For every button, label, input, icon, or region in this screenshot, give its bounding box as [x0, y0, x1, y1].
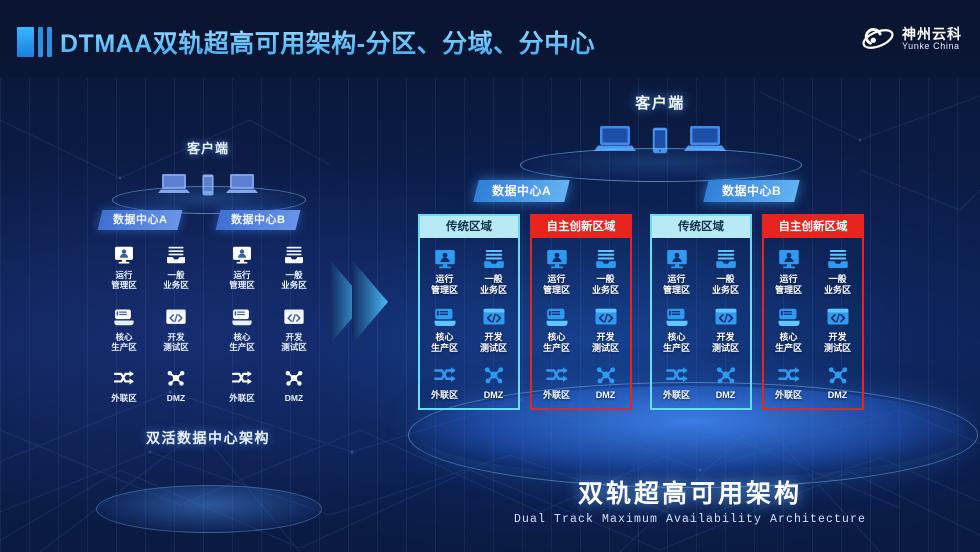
zone-icon-wrap — [150, 242, 202, 268]
zone-icon-wrap — [701, 362, 750, 388]
zone-cell[interactable]: 核心生产区 — [764, 304, 813, 354]
zone-label: 核心生产区 — [532, 332, 581, 354]
zone-label: 核心生产区 — [764, 332, 813, 354]
zone-cell[interactable]: 开发测试区 — [581, 304, 630, 354]
monitor-user-icon — [545, 247, 569, 271]
zone-icon-wrap — [469, 246, 518, 272]
zone-cell[interactable]: 一般业务区 — [813, 246, 862, 296]
left-datacenter-tag-b-label: 数据中心B — [231, 210, 285, 230]
left-zone-cell: 核心生产区 — [98, 304, 150, 353]
code-window-icon — [714, 305, 738, 329]
zone-cell[interactable]: 运行管理区 — [652, 246, 701, 296]
crossing-arrows-icon — [545, 363, 569, 387]
zone-icon-wrap — [652, 362, 701, 388]
zone-label: 开发测试区 — [469, 332, 518, 354]
left-zone-cell: DMZ — [268, 365, 320, 403]
network-nodes-icon — [283, 367, 305, 389]
inbox-tray-icon — [482, 247, 506, 271]
zone-label: DMZ — [813, 390, 862, 401]
left-datacenter-tag-a-label: 数据中心A — [113, 210, 167, 230]
header-accent-bars-icon — [17, 27, 52, 57]
zone-column-body: 运行管理区一般业务区核心生产区开发测试区外联区DMZ — [762, 238, 864, 410]
zone-icon-wrap — [532, 362, 581, 388]
zone-label: 运行管理区 — [652, 274, 701, 296]
zone-icon-wrap — [150, 365, 202, 391]
left-zone-label: 一般业务区 — [268, 270, 320, 291]
left-zone-label: 外联区 — [216, 393, 268, 403]
zone-label: DMZ — [581, 390, 630, 401]
network-nodes-icon — [165, 367, 187, 389]
zone-icon-wrap — [813, 246, 862, 272]
zone-icon-wrap — [420, 304, 469, 330]
zone-icon-wrap — [701, 304, 750, 330]
zone-icon-wrap — [150, 304, 202, 330]
monitor-user-icon — [231, 244, 253, 266]
zone-column-header: 传统区域 — [418, 214, 520, 238]
inbox-tray-icon — [826, 247, 850, 271]
crossing-arrows-icon — [231, 367, 253, 389]
database-server-icon — [231, 306, 253, 328]
inbox-tray-icon — [283, 244, 305, 266]
zone-column-traditional[interactable]: 传统区域运行管理区一般业务区核心生产区开发测试区外联区DMZ — [650, 214, 752, 410]
left-zone-label: 开发测试区 — [268, 332, 320, 353]
left-zone-label: 开发测试区 — [150, 332, 202, 353]
zone-icon-wrap — [652, 246, 701, 272]
monitor-user-icon — [113, 244, 135, 266]
left-zone-label: 运行管理区 — [216, 270, 268, 291]
inbox-tray-icon — [594, 247, 618, 271]
zone-icon-wrap — [652, 304, 701, 330]
inbox-tray-icon — [714, 247, 738, 271]
database-server-icon — [665, 305, 689, 329]
monitor-user-icon — [777, 247, 801, 271]
left-datacenter-tag-a: 数据中心A — [98, 210, 183, 230]
zone-icon-wrap — [581, 246, 630, 272]
code-window-icon — [165, 306, 187, 328]
zone-icon-wrap — [813, 304, 862, 330]
zone-label: DMZ — [701, 390, 750, 401]
zone-icon-wrap — [268, 242, 320, 268]
zone-cell[interactable]: 一般业务区 — [469, 246, 518, 296]
code-window-icon — [482, 305, 506, 329]
zone-column-innovation[interactable]: 自主创新区域运行管理区一般业务区核心生产区开发测试区外联区DMZ — [530, 214, 632, 410]
crossing-arrows-icon — [777, 363, 801, 387]
swirl-logo-icon — [861, 24, 895, 54]
right-client-label: 客户端 — [570, 92, 750, 113]
zone-icon-wrap — [469, 362, 518, 388]
zone-label: DMZ — [469, 390, 518, 401]
logo-text-cn: 神州云科 — [902, 27, 962, 42]
page-title: DTMAA双轨超高可用架构-分区、分域、分中心 — [60, 24, 595, 60]
right-datacenter-tag-b-label: 数据中心B — [722, 180, 781, 202]
right-datacenter-tag-a-label: 数据中心A — [492, 180, 551, 202]
zone-cell[interactable]: 运行管理区 — [532, 246, 581, 296]
zone-icon-wrap — [469, 304, 518, 330]
zone-icon-wrap — [701, 246, 750, 272]
zone-cell[interactable]: 外联区 — [532, 362, 581, 401]
zone-column-body: 运行管理区一般业务区核心生产区开发测试区外联区DMZ — [650, 238, 752, 410]
right-caption-cn: 双轨超高可用架构 — [460, 474, 920, 510]
zone-icon-wrap — [420, 246, 469, 272]
zone-column-header: 传统区域 — [650, 214, 752, 238]
zone-label: 运行管理区 — [420, 274, 469, 296]
dtmaa-architecture-panel: 客户端 数据中心A 数据中心B 传统区域运行管理区一般业务区核心生产区开发测试区… — [400, 86, 980, 546]
crossing-arrows-icon — [665, 363, 689, 387]
left-zone-label: 运行管理区 — [98, 270, 150, 291]
database-server-icon — [777, 305, 801, 329]
zone-icon-wrap — [813, 362, 862, 388]
left-zone-cell: 外联区 — [216, 365, 268, 403]
zone-icon-wrap — [764, 362, 813, 388]
left-zone-label: DMZ — [150, 393, 202, 403]
right-caption-en: Dual Track Maximum Availability Architec… — [460, 513, 920, 526]
right-datacenter-tag-a: 数据中心A — [473, 180, 570, 202]
database-server-icon — [545, 305, 569, 329]
zone-icon-wrap — [532, 246, 581, 272]
zone-cell[interactable]: 核心生产区 — [420, 304, 469, 354]
zone-label: 外联区 — [420, 390, 469, 401]
zone-label: 一般业务区 — [469, 274, 518, 296]
monitor-user-icon — [665, 247, 689, 271]
zone-label: 运行管理区 — [764, 274, 813, 296]
zone-icon-wrap — [420, 362, 469, 388]
zone-column-innovation[interactable]: 自主创新区域运行管理区一般业务区核心生产区开发测试区外联区DMZ — [762, 214, 864, 410]
database-server-icon — [433, 305, 457, 329]
zone-label: 运行管理区 — [532, 274, 581, 296]
database-server-icon — [113, 306, 135, 328]
right-caption: 双轨超高可用架构 Dual Track Maximum Availability… — [460, 474, 920, 526]
zone-icon-wrap — [764, 304, 813, 330]
zone-column-header: 自主创新区域 — [530, 214, 632, 238]
zone-label: 核心生产区 — [420, 332, 469, 354]
left-datacenter-tag-b: 数据中心B — [216, 210, 301, 230]
zone-cell[interactable]: 一般业务区 — [701, 246, 750, 296]
zone-icon-wrap — [268, 365, 320, 391]
right-datacenter-tag-b: 数据中心B — [703, 180, 800, 202]
brand-logo: 神州云科 Yunke China — [861, 24, 962, 54]
left-client-label: 客户端 — [88, 138, 328, 157]
zone-column-traditional[interactable]: 传统区域运行管理区一般业务区核心生产区开发测试区外联区DMZ — [418, 214, 520, 410]
zone-cell[interactable]: 外联区 — [652, 362, 701, 401]
left-zone-cell: DMZ — [150, 365, 202, 403]
zone-column-body: 运行管理区一般业务区核心生产区开发测试区外联区DMZ — [530, 238, 632, 410]
zone-cell[interactable]: 开发测试区 — [813, 304, 862, 354]
zone-label: 一般业务区 — [701, 274, 750, 296]
zone-icon-wrap — [98, 365, 150, 391]
zone-cell[interactable]: 开发测试区 — [701, 304, 750, 354]
code-window-icon — [594, 305, 618, 329]
double-chevron-right-icon — [326, 252, 396, 352]
code-window-icon — [283, 306, 305, 328]
network-nodes-icon — [826, 363, 850, 387]
zone-icon-wrap — [764, 246, 813, 272]
left-zone-label: 核心生产区 — [98, 332, 150, 353]
zone-icon-wrap — [98, 242, 150, 268]
legacy-architecture-panel: 客户端 数据中心A 数据中心B 运行管理区一般业务区核心生产区开发测试区外联区D… — [88, 130, 328, 460]
left-zone-cell: 运行管理区 — [216, 242, 268, 291]
left-zone-cell: 运行管理区 — [98, 242, 150, 291]
left-zone-label: 外联区 — [98, 393, 150, 403]
left-zone-grid-b: 运行管理区一般业务区核心生产区开发测试区外联区DMZ — [216, 242, 320, 417]
network-nodes-icon — [714, 363, 738, 387]
zone-icon-wrap — [216, 304, 268, 330]
zone-column-header: 自主创新区域 — [762, 214, 864, 238]
zone-label: 一般业务区 — [581, 274, 630, 296]
crossing-arrows-icon — [433, 363, 457, 387]
zone-cell[interactable]: DMZ — [469, 362, 518, 401]
zone-icon-wrap — [581, 362, 630, 388]
code-window-icon — [826, 305, 850, 329]
left-zone-label: 核心生产区 — [216, 332, 268, 353]
left-zone-label: 一般业务区 — [150, 270, 202, 291]
monitor-user-icon — [433, 247, 457, 271]
zone-cell[interactable]: 核心生产区 — [532, 304, 581, 354]
zone-icon-wrap — [216, 365, 268, 391]
left-zone-cell: 开发测试区 — [150, 304, 202, 353]
left-zone-cell: 一般业务区 — [268, 242, 320, 291]
zone-label: 开发测试区 — [813, 332, 862, 354]
crossing-arrows-icon — [113, 367, 135, 389]
left-zone-cell: 外联区 — [98, 365, 150, 403]
zone-cell[interactable]: 运行管理区 — [764, 246, 813, 296]
zone-cell[interactable]: 一般业务区 — [581, 246, 630, 296]
left-caption: 双活数据中心架构 — [88, 428, 328, 448]
zone-cell[interactable]: DMZ — [581, 362, 630, 401]
zone-column-body: 运行管理区一般业务区核心生产区开发测试区外联区DMZ — [418, 238, 520, 410]
inbox-tray-icon — [165, 244, 187, 266]
zone-label: 核心生产区 — [652, 332, 701, 354]
left-zone-cell: 核心生产区 — [216, 304, 268, 353]
left-zone-cell: 一般业务区 — [150, 242, 202, 291]
zone-label: 一般业务区 — [813, 274, 862, 296]
zone-icon-wrap — [98, 304, 150, 330]
left-zone-grid-a: 运行管理区一般业务区核心生产区开发测试区外联区DMZ — [98, 242, 202, 417]
zone-cell[interactable]: 开发测试区 — [469, 304, 518, 354]
zone-label: 开发测试区 — [701, 332, 750, 354]
right-client-platform — [520, 148, 802, 182]
zone-label: 外联区 — [764, 390, 813, 401]
left-zone-label: DMZ — [268, 393, 320, 403]
zone-icon-wrap — [532, 304, 581, 330]
zone-cell[interactable]: 运行管理区 — [420, 246, 469, 296]
left-zone-cell: 开发测试区 — [268, 304, 320, 353]
network-nodes-icon — [594, 363, 618, 387]
logo-text-en: Yunke China — [902, 42, 962, 51]
network-nodes-icon — [482, 363, 506, 387]
zone-cell[interactable]: 外联区 — [420, 362, 469, 401]
zone-icon-wrap — [581, 304, 630, 330]
left-base-platform — [96, 485, 322, 533]
zone-icon-wrap — [216, 242, 268, 268]
zone-cell[interactable]: DMZ — [813, 362, 862, 401]
zone-cell[interactable]: 外联区 — [764, 362, 813, 401]
zone-icon-wrap — [268, 304, 320, 330]
zone-cell[interactable]: 核心生产区 — [652, 304, 701, 354]
zone-label: 外联区 — [652, 390, 701, 401]
zone-label: 开发测试区 — [581, 332, 630, 354]
zone-cell[interactable]: DMZ — [701, 362, 750, 401]
zone-label: 外联区 — [532, 390, 581, 401]
